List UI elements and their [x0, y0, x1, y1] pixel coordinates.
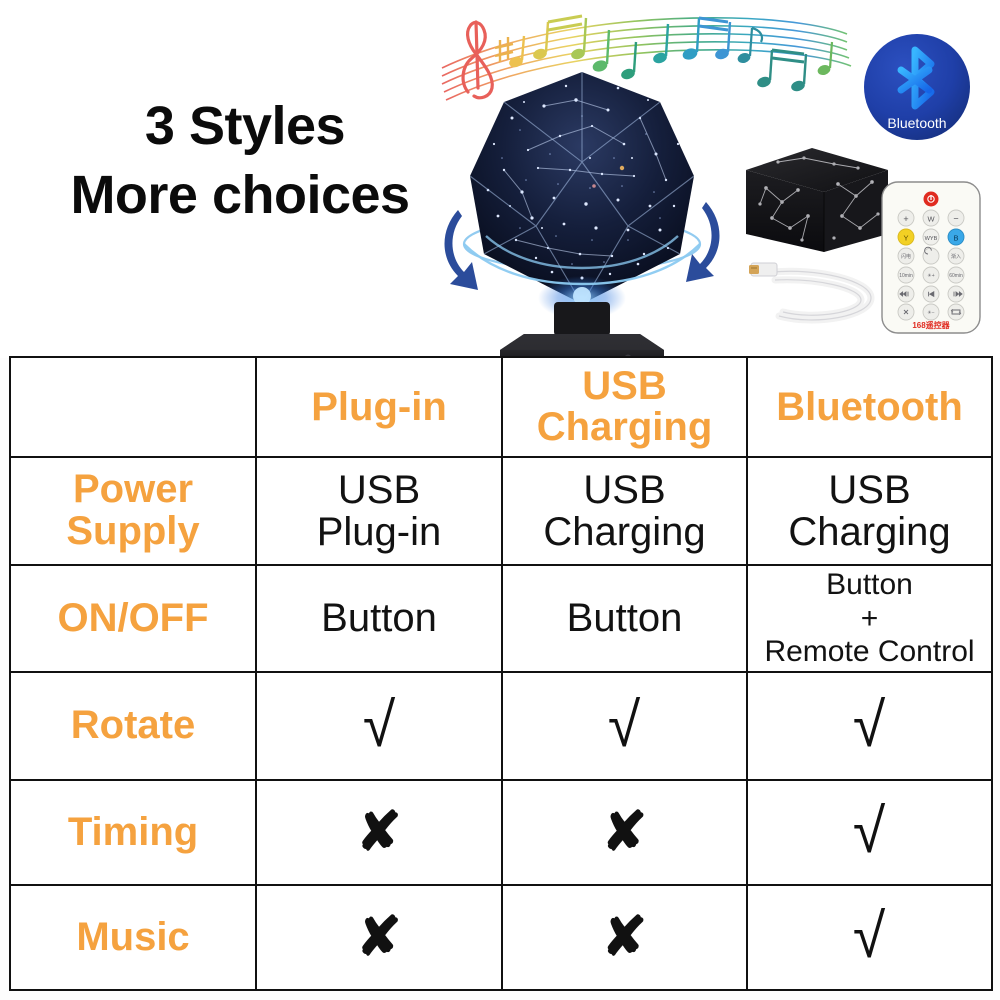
row-label-rotate: Rotate: [10, 672, 256, 780]
cell-onoff-usb: Button: [502, 565, 747, 672]
cell-line2: Plug-in: [261, 511, 497, 553]
infographic-root: 3 Styles More choices: [0, 0, 1000, 1000]
cross-icon: ✘: [356, 805, 401, 859]
cell-onoff-plugin: Button: [256, 565, 502, 672]
header-cell-bluetooth: Bluetooth: [747, 357, 992, 457]
table-row-onoff: ON/OFF Button Button Button + Remote Con…: [10, 565, 992, 672]
cell-line1: Button: [261, 597, 497, 639]
svg-text:渐入: 渐入: [951, 253, 961, 260]
cell-line1: USB: [261, 469, 497, 511]
headline: 3 Styles More choices: [40, 98, 440, 224]
svg-text:☀+: ☀+: [927, 273, 934, 279]
check-icon: √: [363, 695, 395, 757]
row-label-power-supply: Power Supply: [10, 457, 256, 565]
cross-icon: ✘: [356, 910, 401, 964]
cell-rotate-usb: √: [502, 672, 747, 780]
svg-text:B: B: [953, 234, 958, 243]
remote-control[interactable]: + W − Y WYB B: [878, 180, 984, 335]
cell-music-plugin: ✘: [256, 885, 502, 990]
svg-text:60min: 60min: [949, 273, 963, 279]
bluetooth-icon: Bluetooth: [862, 32, 972, 142]
cross-icon: ✘: [602, 910, 647, 964]
svg-text:−: −: [953, 214, 958, 224]
hero-section: 3 Styles More choices: [0, 0, 1000, 358]
cell-line1: Button: [507, 597, 742, 639]
cell-timing-usb: ✘: [502, 780, 747, 885]
table-row-timing: Timing ✘ ✘ √: [10, 780, 992, 885]
header-plugin-label: Plug-in: [261, 387, 497, 427]
remote-model-label: 168遥控器: [912, 320, 950, 330]
cross-icon: ✘: [602, 805, 647, 859]
check-icon: √: [853, 695, 885, 757]
star-projector-lamp: [432, 58, 732, 358]
cell-line2: Charging: [752, 511, 987, 553]
check-icon: √: [853, 801, 885, 863]
cell-line2: Charging: [507, 511, 742, 553]
svg-text:W: W: [927, 215, 935, 224]
row-label-onoff: ON/OFF: [10, 565, 256, 672]
row-label-line2: Supply: [15, 511, 251, 553]
cell-line1: USB: [752, 469, 987, 511]
svg-text:闪电: 闪电: [901, 253, 911, 260]
cell-rotate-bluetooth: √: [747, 672, 992, 780]
cell-power-bluetooth: USB Charging: [747, 457, 992, 565]
usb-cable: [745, 250, 885, 335]
cell-rotate-plugin: √: [256, 672, 502, 780]
svg-text:WYB: WYB: [925, 236, 938, 242]
svg-text:+: +: [903, 214, 908, 224]
row-label-timing: Timing: [10, 780, 256, 885]
header-cell-empty: [10, 357, 256, 457]
cell-timing-bluetooth: √: [747, 780, 992, 885]
check-icon: √: [608, 695, 640, 757]
constellation-gift-box: [738, 130, 893, 260]
cell-timing-plugin: ✘: [256, 780, 502, 885]
cell-music-bluetooth: √: [747, 885, 992, 990]
headline-line-1: 3 Styles: [40, 98, 440, 155]
header-cell-usb-charging: USB Charging: [502, 357, 747, 457]
header-cell-plugin: Plug-in: [256, 357, 502, 457]
row-label-line1: ON/OFF: [15, 598, 251, 640]
svg-text:Y: Y: [903, 234, 908, 243]
header-usb-line1: USB: [507, 366, 742, 407]
comparison-table: Plug-in USB Charging Bluetooth Power Sup…: [9, 356, 993, 991]
check-icon: √: [853, 906, 885, 968]
header-bluetooth-label: Bluetooth: [752, 387, 987, 427]
table-header-row: Plug-in USB Charging Bluetooth: [10, 357, 992, 457]
cell-power-plugin: USB Plug-in: [256, 457, 502, 565]
row-label-music: Music: [10, 885, 256, 990]
cell-line3: Remote Control: [752, 635, 987, 669]
cell-music-usb: ✘: [502, 885, 747, 990]
table-row-music: Music ✘ ✘ √: [10, 885, 992, 990]
table-row-power-supply: Power Supply USB Plug-in USB Charging US…: [10, 457, 992, 565]
cell-line2: +: [752, 602, 987, 636]
header-usb-line2: Charging: [507, 407, 742, 448]
cell-line1: USB: [507, 469, 742, 511]
cell-line1: Button: [752, 568, 987, 602]
row-label-line1: Power: [15, 469, 251, 511]
svg-text:☀−: ☀−: [927, 310, 934, 316]
cell-power-usb: USB Charging: [502, 457, 747, 565]
bluetooth-badge-label: Bluetooth: [887, 115, 946, 131]
headline-line-2: More choices: [40, 167, 440, 224]
cell-onoff-bluetooth: Button + Remote Control: [747, 565, 992, 672]
row-label-line1: Rotate: [15, 705, 251, 747]
table-row-rotate: Rotate √ √ √: [10, 672, 992, 780]
row-label-line1: Music: [15, 917, 251, 959]
svg-text:10min: 10min: [899, 273, 913, 279]
row-label-line1: Timing: [15, 812, 251, 854]
